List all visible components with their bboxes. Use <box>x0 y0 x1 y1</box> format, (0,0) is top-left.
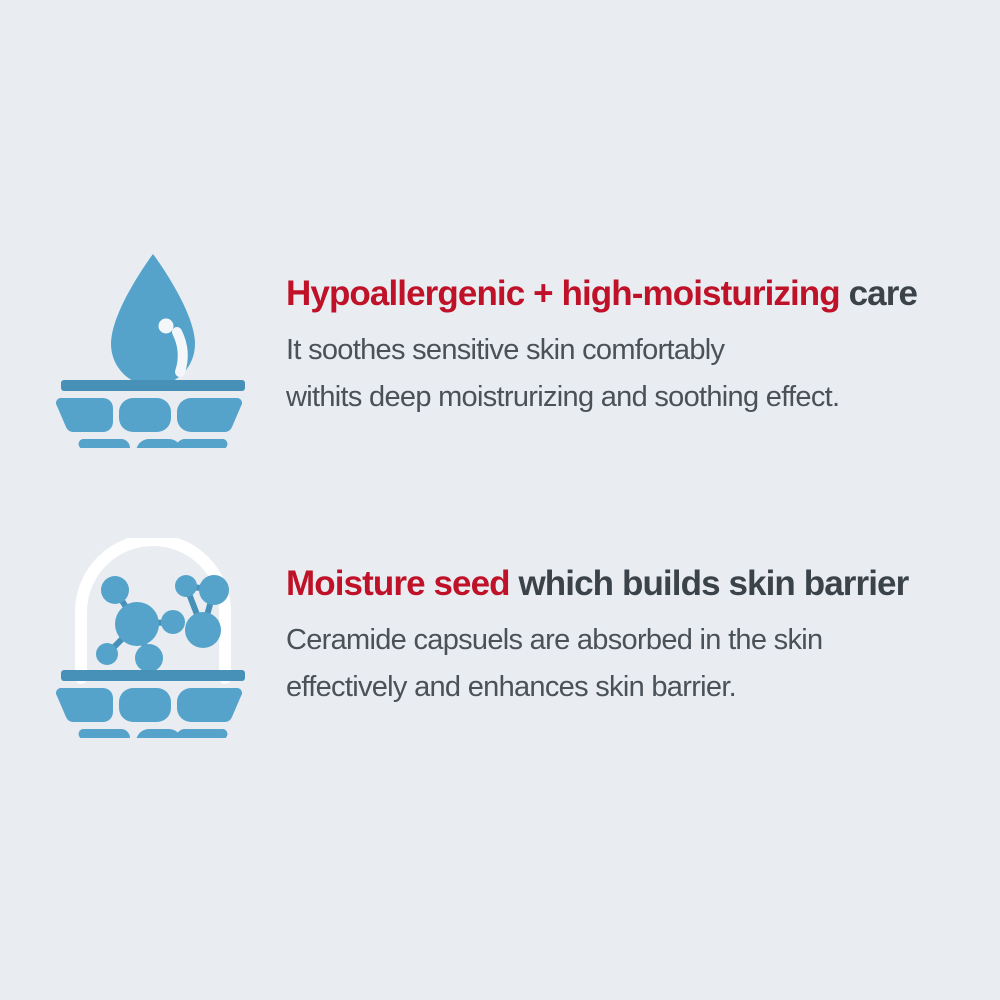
feature-block-hypoallergenic: Hypoallergenic + high-moisturizing care … <box>0 248 1000 448</box>
feature-body-line: It soothes sensitive skin comfortably <box>286 327 917 374</box>
product-benefits-infographic: Hypoallergenic + high-moisturizing care … <box>0 0 1000 1000</box>
feature-block-moisture-seed: Moisture seed which builds skin barrier … <box>0 538 1000 738</box>
feature-body: Ceramide capsuels are absorbed in the sk… <box>286 617 908 711</box>
feature-text-hypoallergenic: Hypoallergenic + high-moisturizing care … <box>286 248 917 421</box>
moisture-seed-molecules-dome-icon <box>48 538 258 738</box>
feature-heading-rest: care <box>840 274 917 313</box>
feature-heading: Hypoallergenic + high-moisturizing care <box>286 274 917 313</box>
feature-body-line: Ceramide capsuels are absorbed in the sk… <box>286 617 908 664</box>
feature-body-line: effectively and enhances skin barrier. <box>286 664 908 711</box>
feature-heading: Moisture seed which builds skin barrier <box>286 564 908 603</box>
feature-body: It soothes sensitive skin comfortably wi… <box>286 327 917 421</box>
feature-body-line: withits deep moistrurizing and soothing … <box>286 374 917 421</box>
feature-heading-accent: Hypoallergenic + high-moisturizing <box>286 274 840 313</box>
feature-text-moisture-seed: Moisture seed which builds skin barrier … <box>286 538 908 711</box>
feature-heading-accent: Moisture seed <box>286 564 510 603</box>
water-drop-on-skin-layer-icon <box>48 248 258 448</box>
feature-heading-rest: which builds skin barrier <box>510 564 909 603</box>
